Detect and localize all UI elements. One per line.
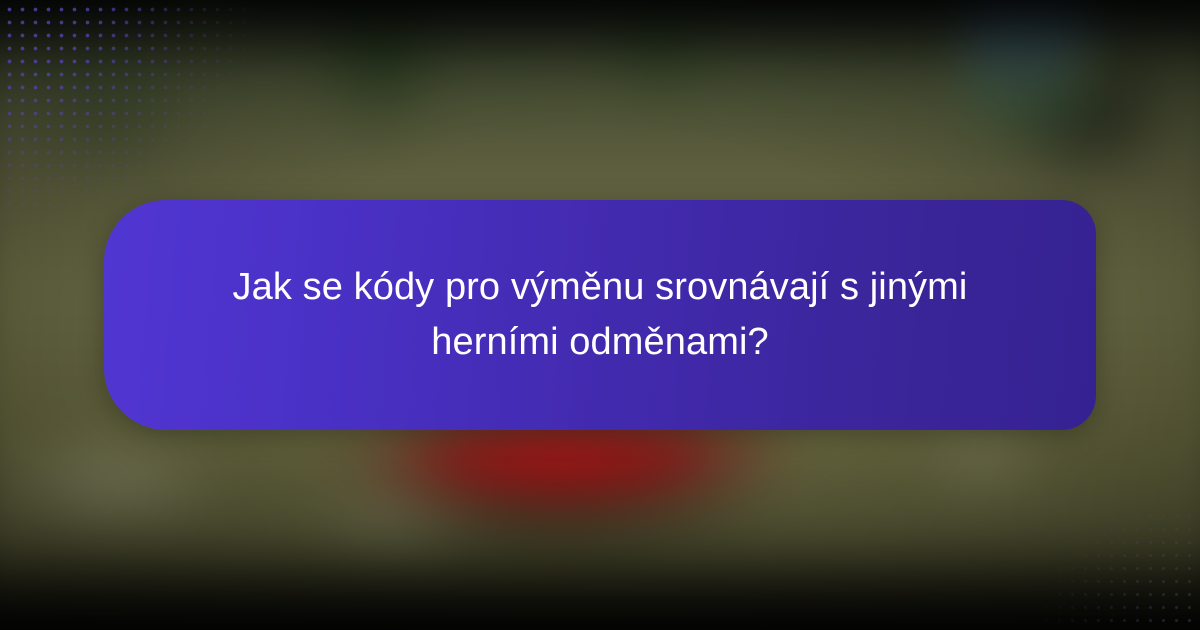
halftone-dots-bottom-right [910,406,1200,630]
question-title: Jak se kódy pro výměnu srovnávají s jiný… [230,260,970,369]
question-card: Jak se kódy pro výměnu srovnávají s jiný… [104,200,1096,430]
screenshot-stage: Jak se kódy pro výměnu srovnávají s jiný… [0,0,1200,630]
